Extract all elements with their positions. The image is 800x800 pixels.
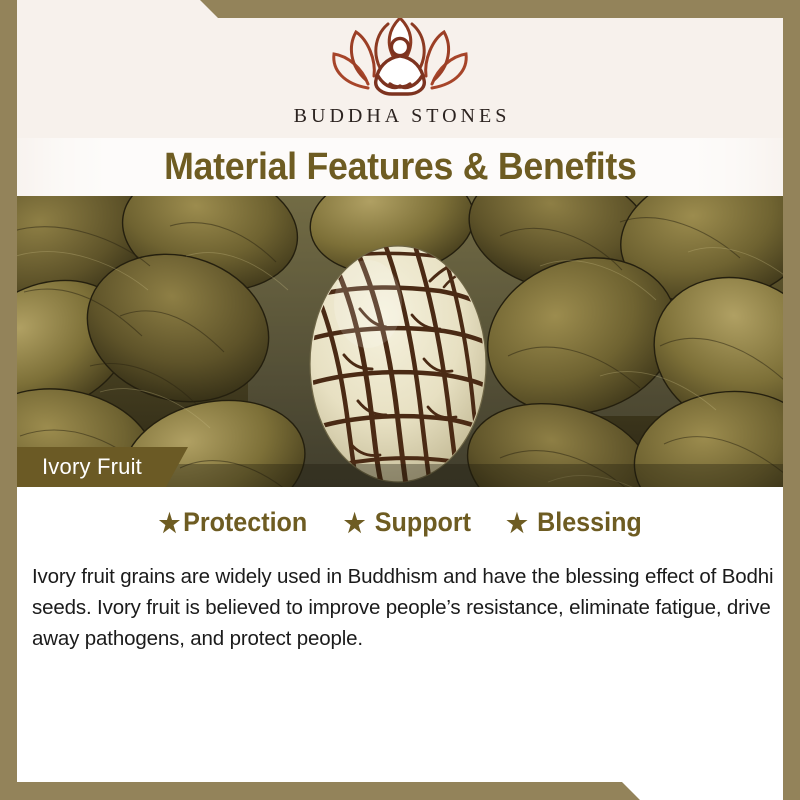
lotus-meditation-icon <box>310 14 490 100</box>
feature-label-support: Support <box>374 507 470 538</box>
star-icon: ★ <box>506 510 528 536</box>
brand-logo: BUDDHA STONES <box>0 14 800 128</box>
feature-label-blessing: Blessing <box>537 507 642 538</box>
feature-item-blessing: ★ Blessing <box>506 507 642 538</box>
photo-caption-label: Ivory Fruit <box>42 454 142 480</box>
brand-name: BUDDHA STONES <box>290 105 511 128</box>
infographic-card: BUDDHA STONES Material Features & Benefi… <box>0 0 800 800</box>
page-title: Material Features & Benefits <box>164 147 636 187</box>
photo-caption-banner: Ivory Fruit <box>0 447 188 487</box>
ivory-fruit-nuts-photo <box>0 196 800 487</box>
star-icon: ★ <box>343 510 365 536</box>
description-paragraph: Ivory fruit grains are widely used in Bu… <box>32 561 774 654</box>
feature-item-protection: ★ Protection <box>158 507 307 538</box>
title-band: Material Features & Benefits <box>0 138 800 196</box>
feature-list: ★ Protection ★ Support ★ Blessing <box>0 507 800 538</box>
feature-item-support: ★ Support <box>343 507 470 538</box>
star-icon: ★ <box>158 510 180 536</box>
product-photo: Ivory Fruit <box>0 196 800 487</box>
feature-label-protection: Protection <box>183 507 307 538</box>
content-section: ★ Protection ★ Support ★ Blessing Ivory … <box>0 487 800 800</box>
